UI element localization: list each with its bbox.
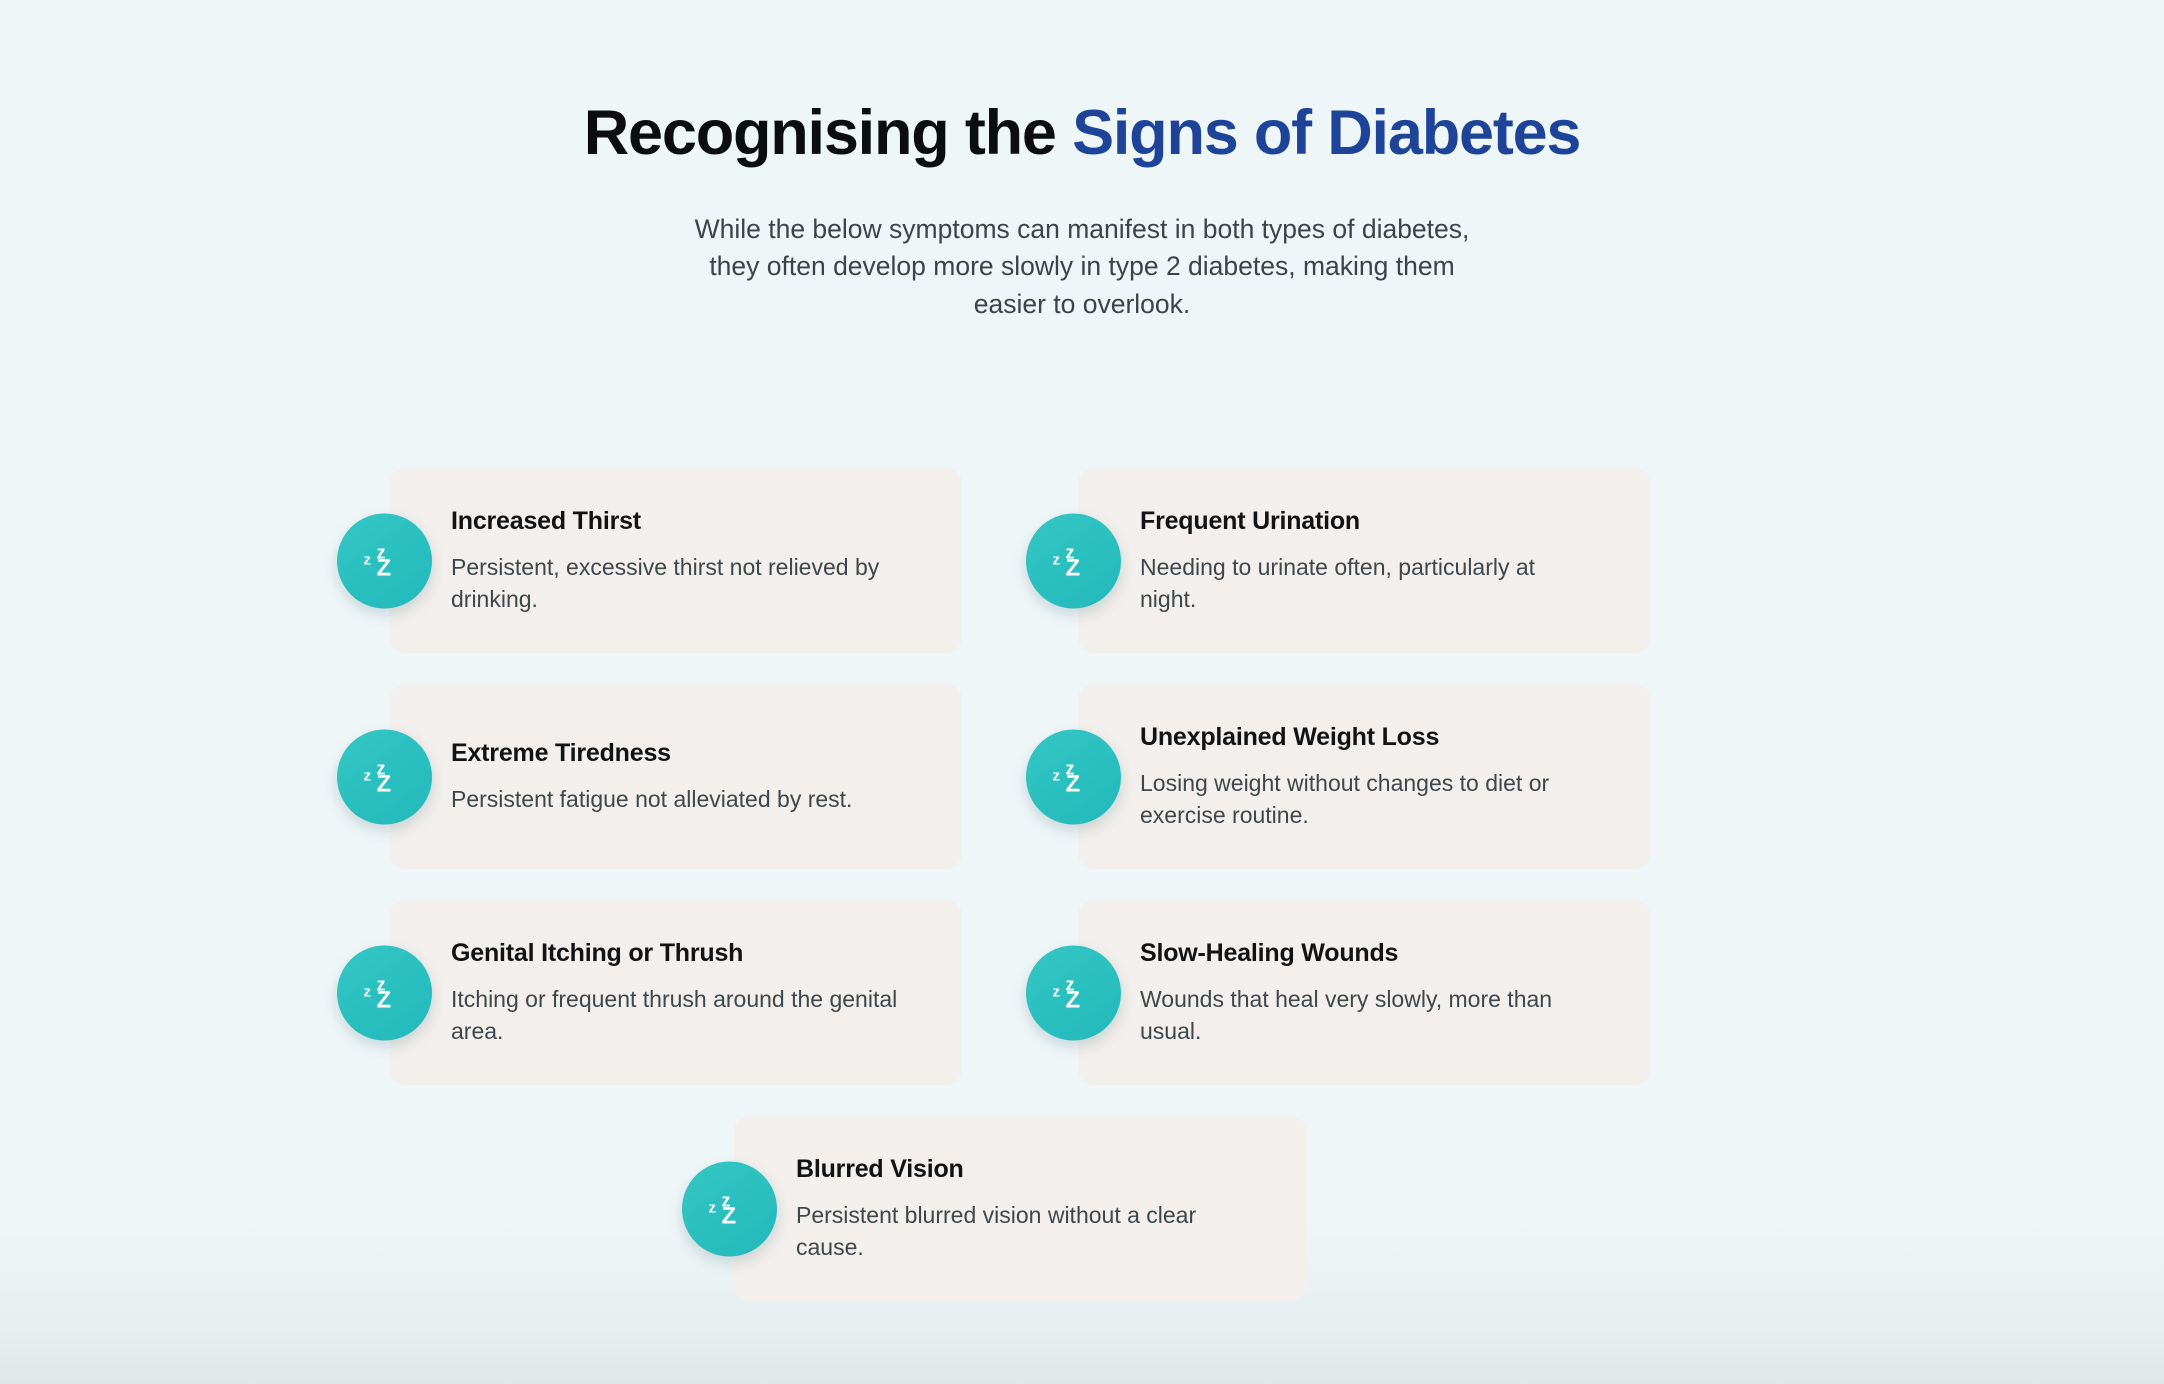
page-subtitle-line-3: easier to overlook.: [0, 286, 2164, 324]
sleep-zzz-icon: z z Z: [337, 729, 432, 824]
card-description: Itching or frequent thrush around the ge…: [451, 984, 906, 1047]
sleep-zzz-icon: z z Z: [1026, 729, 1121, 824]
card-description: Persistent fatigue not alleviated by res…: [451, 784, 906, 816]
zzz-small-letter: z: [364, 553, 372, 568]
zzz-glyph: z z Z: [1051, 540, 1097, 582]
card-title: Frequent Urination: [1140, 506, 1617, 537]
zzz-small-letter: z: [364, 769, 372, 784]
page-subtitle: While the below symptoms can manifest in…: [0, 211, 2164, 324]
card-description: Needing to urinate often, particularly a…: [1140, 552, 1595, 615]
card-title: Genital Itching or Thrush: [451, 938, 928, 969]
page-title-accent: Signs of Diabetes: [1072, 98, 1580, 168]
zzz-glyph: z z Z: [1051, 756, 1097, 798]
symptom-card-genital-itching-or-thrush[interactable]: z z Z Genital Itching or Thrush Itching …: [389, 900, 962, 1085]
symptom-card-slow-healing-wounds[interactable]: z z Z Slow-Healing Wounds Wounds that he…: [1078, 900, 1651, 1085]
page-subtitle-line-1: While the below symptoms can manifest in…: [0, 211, 2164, 249]
sleep-zzz-icon: z z Z: [337, 513, 432, 608]
zzz-small-letter: z: [364, 985, 372, 1000]
sleep-zzz-icon: z z Z: [1026, 513, 1121, 608]
card-title: Extreme Tiredness: [451, 738, 928, 769]
page-header: Recognising the Signs of Diabetes While …: [0, 0, 2164, 323]
zzz-glyph: z z Z: [1051, 972, 1097, 1014]
zzz-large-letter: Z: [1066, 773, 1081, 797]
symptom-card-blurred-vision[interactable]: z z Z Blurred Vision Persistent blurred …: [734, 1116, 1307, 1301]
zzz-glyph: z z Z: [362, 540, 408, 582]
card-row: z z Z Genital Itching or Thrush Itching …: [389, 900, 1652, 1085]
card-title: Increased Thirst: [451, 506, 928, 537]
card-description: Persistent, excessive thirst not relieve…: [451, 552, 906, 615]
card-description: Losing weight without changes to diet or…: [1140, 768, 1595, 831]
zzz-small-letter: z: [1053, 769, 1061, 784]
zzz-large-letter: Z: [377, 989, 392, 1013]
zzz-large-letter: Z: [1066, 557, 1081, 581]
page-root: Recognising the Signs of Diabetes While …: [0, 0, 2164, 1384]
zzz-small-letter: z: [1053, 553, 1061, 568]
zzz-large-letter: Z: [377, 557, 392, 581]
card-row: z z Z Blurred Vision Persistent blurred …: [389, 1116, 1652, 1301]
card-row: z z Z Extreme Tiredness Persistent fatig…: [389, 684, 1652, 869]
page-title-lead: Recognising the: [584, 98, 1072, 168]
card-description: Wounds that heal very slowly, more than …: [1140, 984, 1595, 1047]
symptom-card-increased-thirst[interactable]: z z Z Increased Thirst Persistent, exces…: [389, 468, 962, 653]
sleep-zzz-icon: z z Z: [337, 945, 432, 1040]
zzz-glyph: z z Z: [707, 1188, 753, 1230]
card-title: Slow-Healing Wounds: [1140, 938, 1617, 969]
sleep-zzz-icon: z z Z: [1026, 945, 1121, 1040]
card-description: Persistent blurred vision without a clea…: [796, 1200, 1251, 1263]
zzz-large-letter: Z: [722, 1205, 737, 1229]
zzz-large-letter: Z: [1066, 989, 1081, 1013]
symptom-card-unexplained-weight-loss[interactable]: z z Z Unexplained Weight Loss Losing wei…: [1078, 684, 1651, 869]
card-title: Unexplained Weight Loss: [1140, 722, 1617, 753]
page-title: Recognising the Signs of Diabetes: [0, 98, 2164, 169]
page-subtitle-line-2: they often develop more slowly in type 2…: [0, 248, 2164, 286]
zzz-large-letter: Z: [377, 773, 392, 797]
card-title: Blurred Vision: [796, 1154, 1273, 1185]
symptom-card-frequent-urination[interactable]: z z Z Frequent Urination Needing to urin…: [1078, 468, 1651, 653]
zzz-small-letter: z: [1053, 985, 1061, 1000]
card-row: z z Z Increased Thirst Persistent, exces…: [389, 468, 1652, 653]
sleep-zzz-icon: z z Z: [682, 1161, 777, 1256]
symptom-card-grid: z z Z Increased Thirst Persistent, exces…: [389, 468, 1652, 1301]
zzz-glyph: z z Z: [362, 756, 408, 798]
symptom-card-extreme-tiredness[interactable]: z z Z Extreme Tiredness Persistent fatig…: [389, 684, 962, 869]
zzz-glyph: z z Z: [362, 972, 408, 1014]
zzz-small-letter: z: [709, 1201, 717, 1216]
